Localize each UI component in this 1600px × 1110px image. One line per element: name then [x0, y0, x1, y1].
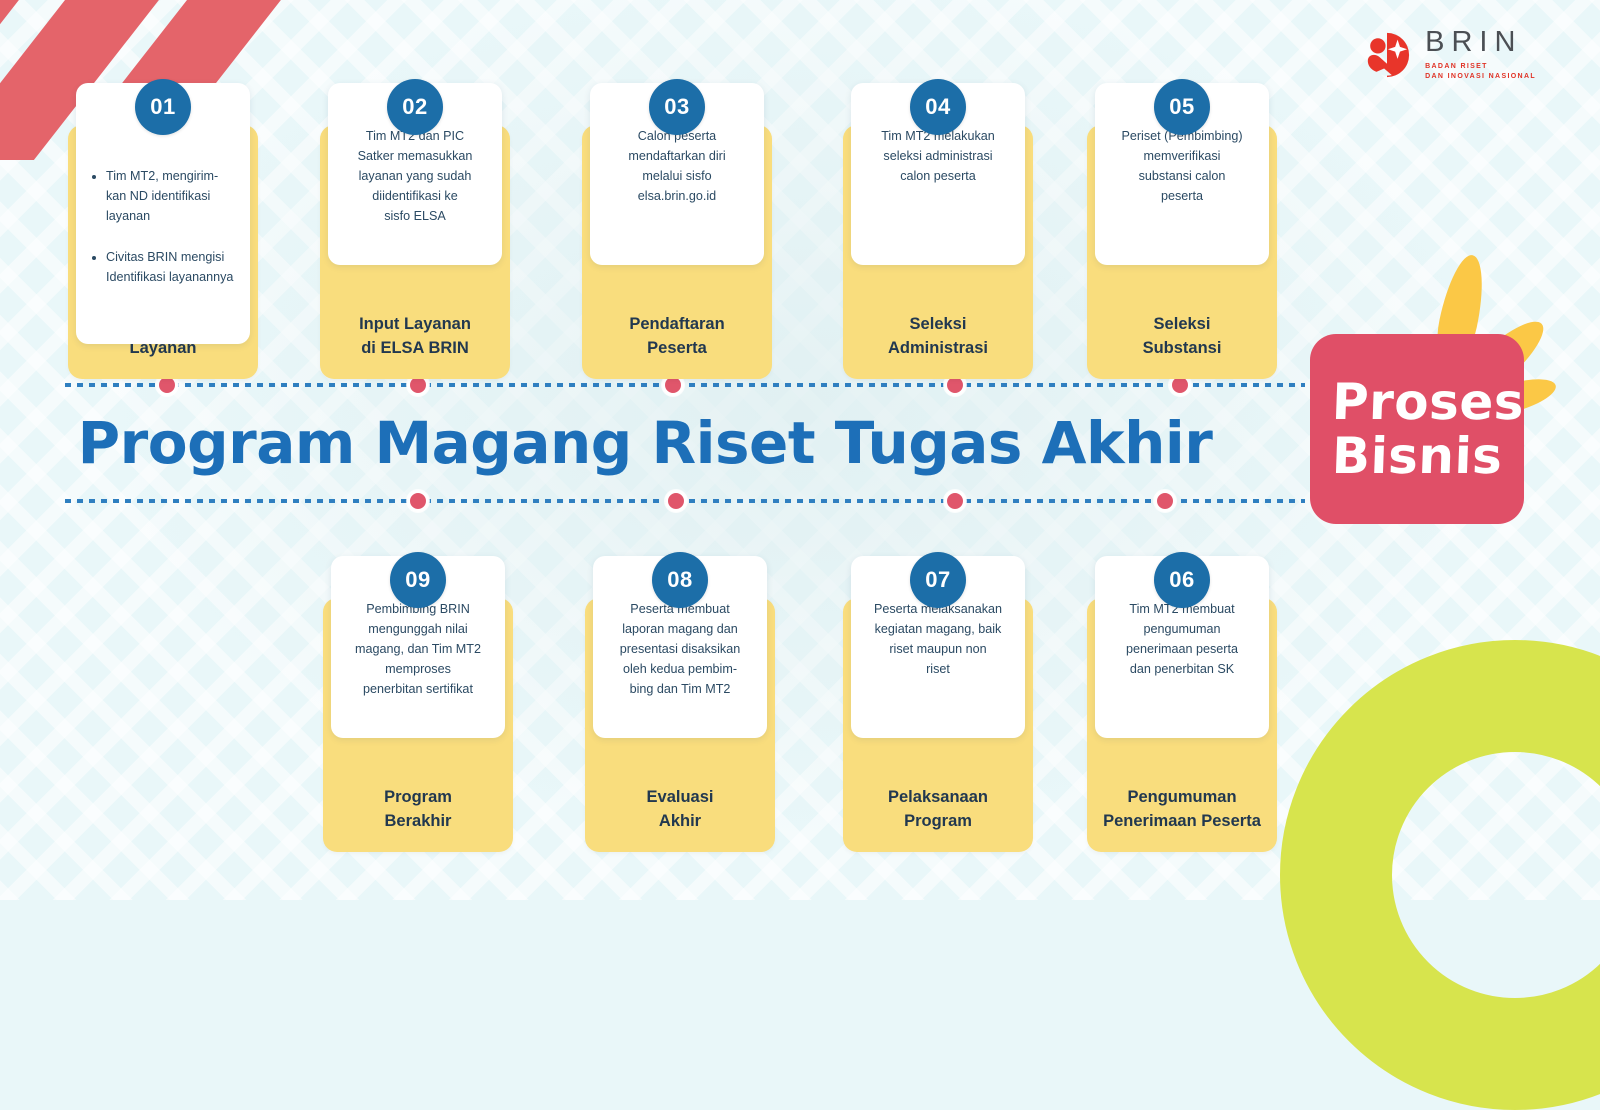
proses-bisnis-badge: Proses Bisnis: [1310, 250, 1540, 550]
step-number-04: 04: [910, 79, 966, 135]
timeline-bottom-node-1: [407, 490, 429, 512]
proses-bisnis-line-2: Bisnis: [1331, 430, 1503, 483]
timeline-top-line: [65, 383, 1305, 387]
brin-name: BRIN: [1425, 28, 1536, 57]
timeline-bottom-node-3: [944, 490, 966, 512]
step-number-07: 07: [910, 552, 966, 608]
timeline-top: [65, 383, 1305, 387]
step-card-05-desc: Periset (Pembimbing) memverifikasi subst…: [1107, 127, 1257, 207]
step-card-04-title: Seleksi Administrasi: [843, 313, 1033, 361]
step-number-05: 05: [1154, 79, 1210, 135]
step-number-03: 03: [649, 79, 705, 135]
step-card-04-panel: 04 Tim MT2 melakukan seleksi administras…: [851, 83, 1025, 265]
step-card-02-panel: 02 Tim MT2 dan PIC Satker memasukkan lay…: [328, 83, 502, 265]
step-card-09-panel: 09 Pembimbing BRIN mengunggah nilai maga…: [331, 556, 505, 738]
brin-tagline: BADAN RISET DAN INOVASI NASIONAL: [1425, 62, 1536, 82]
step-card-09-title: Program Berakhir: [323, 786, 513, 834]
step-number-01: 01: [135, 79, 191, 135]
step-card-05-title: Seleksi Substansi: [1087, 313, 1277, 361]
step-number-06: 06: [1154, 552, 1210, 608]
step-card-09-desc: Pembimbing BRIN mengunggah nilai magang,…: [343, 600, 493, 699]
brin-logo-mark: [1363, 31, 1411, 79]
step-card-08-panel: 08 Peserta membuat laporan magang dan pr…: [593, 556, 767, 738]
proses-bisnis-line-1: Proses: [1331, 376, 1525, 429]
proses-bisnis-plate: Proses Bisnis: [1310, 334, 1524, 524]
step-card-02-desc: Tim MT2 dan PIC Satker memasukkan layana…: [340, 127, 490, 226]
step-number-08: 08: [652, 552, 708, 608]
step-card-08-desc: Peserta membuat laporan magang dan prese…: [605, 600, 755, 699]
step-number-09: 09: [390, 552, 446, 608]
brin-wordmark: BRIN BADAN RISET DAN INOVASI NASIONAL: [1425, 28, 1536, 82]
step-card-03-desc: Calon peserta mendaftarkan diri melalui …: [602, 127, 752, 207]
step-card-06-title: Pengumuman Penerimaan Peserta: [1087, 786, 1277, 834]
step-card-07-panel: 07 Peserta melaksanakan kegiatan magang,…: [851, 556, 1025, 738]
brin-logo: BRIN BADAN RISET DAN INOVASI NASIONAL: [1363, 28, 1536, 82]
timeline-bottom-node-4: [1154, 490, 1176, 512]
timeline-bottom: [65, 499, 1305, 503]
step-card-06-panel: 06 Tim MT2 membuat pengumuman penerimaan…: [1095, 556, 1269, 738]
step-card-01-bullet-1: Tim MT2, mengirim-kan ND identifikasi la…: [106, 167, 238, 227]
step-card-01-bullet-2: Civitas BRIN mengisi Identifikasi layana…: [106, 248, 238, 288]
step-card-04-desc: Tim MT2 melakukan seleksi administrasi c…: [863, 127, 1013, 187]
step-card-01-desc: Tim MT2, mengirim-kan ND identifikasi la…: [88, 127, 238, 330]
step-card-06-desc: Tim MT2 membuat pengumuman penerimaan pe…: [1107, 600, 1257, 680]
step-card-08-title: Evaluasi Akhir: [585, 786, 775, 834]
step-card-05-panel: 05 Periset (Pembimbing) memverifikasi su…: [1095, 83, 1269, 265]
step-card-03-title: Pendaftaran Peserta: [582, 313, 772, 361]
step-card-01-panel: 01 Tim MT2, mengirim-kan ND identifikasi…: [76, 83, 250, 344]
timeline-bottom-node-2: [665, 490, 687, 512]
step-card-02-title: Input Layanan di ELSA BRIN: [320, 313, 510, 361]
step-card-07-title: Pelaksanaan Program: [843, 786, 1033, 834]
step-card-07-desc: Peserta melaksanakan kegiatan magang, ba…: [863, 600, 1013, 680]
step-number-02: 02: [387, 79, 443, 135]
page-title: Program Magang Riset Tugas Akhir: [0, 412, 1290, 476]
step-card-03-panel: 03 Calon peserta mendaftarkan diri melal…: [590, 83, 764, 265]
